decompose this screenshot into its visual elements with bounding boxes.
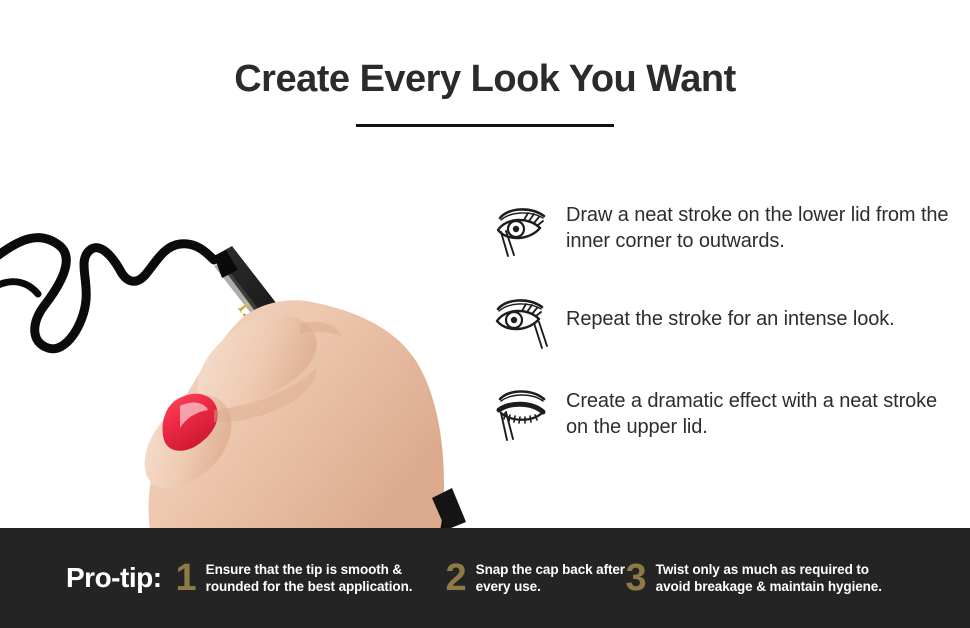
pro-tip-label: Pro-tip: — [66, 562, 162, 594]
eye-lower-lid-icon — [492, 196, 554, 260]
pro-tip-number: 1 — [176, 559, 197, 597]
product-usage-infographic: Create Every Look You Want — [0, 0, 970, 628]
eye-upper-lid-icon — [492, 380, 554, 444]
usage-step-text: Repeat the stroke for an intense look. — [566, 288, 895, 332]
eyeliner-scribble-stroke — [0, 238, 214, 349]
pro-tip-number: 2 — [446, 559, 467, 597]
pro-tip-number: 3 — [626, 559, 647, 597]
pro-tip-text: Ensure that the tip is smooth & rounded … — [206, 561, 446, 595]
page-title: Create Every Look You Want — [0, 57, 970, 103]
hand — [145, 300, 444, 530]
pro-tip-item: 2 Snap the cap back after every use. — [446, 559, 626, 597]
pro-tip-item: 1 Ensure that the tip is smooth & rounde… — [176, 559, 446, 597]
usage-step-text: Create a dramatic effect with a neat str… — [566, 380, 962, 440]
hand-holding-eyeliner-photo: T.A.C beautifey — [0, 110, 500, 530]
pro-tip-text: Twist only as much as required to avoid … — [656, 561, 896, 595]
usage-step: Repeat the stroke for an intense look. — [492, 288, 962, 352]
pro-tip-bar: Pro-tip: 1 Ensure that the tip is smooth… — [0, 528, 970, 628]
pro-tip-list: 1 Ensure that the tip is smooth & rounde… — [176, 559, 970, 597]
usage-steps-list: Draw a neat stroke on the lower lid from… — [492, 196, 962, 472]
usage-step: Create a dramatic effect with a neat str… — [492, 380, 962, 444]
pro-tip-text: Snap the cap back after every use. — [476, 561, 626, 595]
usage-step-text: Draw a neat stroke on the lower lid from… — [566, 196, 962, 254]
eye-repeat-stroke-icon — [492, 288, 554, 352]
usage-step: Draw a neat stroke on the lower lid from… — [492, 196, 962, 260]
pro-tip-item: 3 Twist only as much as required to avoi… — [626, 559, 896, 597]
